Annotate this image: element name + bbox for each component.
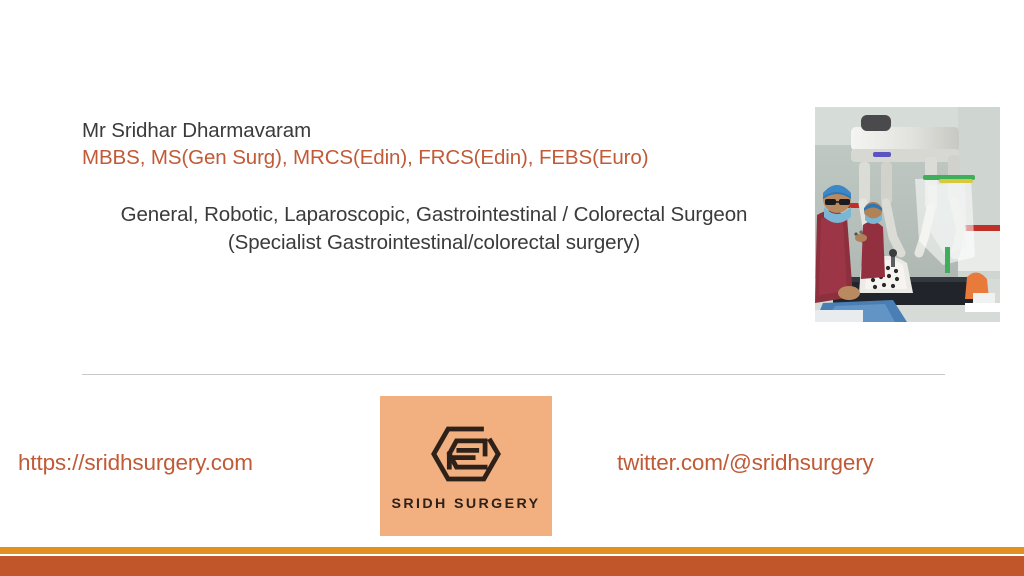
website-link[interactable]: https://sridhsurgery.com	[18, 448, 253, 478]
presenter-intro-block: Mr Sridhar Dharmavaram MBBS, MS(Gen Surg…	[82, 117, 792, 171]
surgical-robot-illustration	[815, 107, 1000, 322]
presenter-name: Mr Sridhar Dharmavaram	[82, 117, 792, 144]
section-divider	[82, 374, 945, 375]
operating-theatre-photo	[815, 107, 1000, 322]
footer-terracotta-bar	[0, 556, 1024, 576]
presenter-role-primary: General, Robotic, Laparoscopic, Gastroin…	[82, 201, 786, 229]
hexagonal-s-monogram-icon	[430, 423, 502, 485]
presenter-role-specialty: (Specialist Gastrointestinal/colorectal …	[82, 229, 786, 257]
hexagonal-s-monogram-svg	[430, 423, 502, 485]
sridh-surgery-logo-card: SRIDH SURGERY	[380, 396, 552, 536]
logo-wordmark: SRIDH SURGERY	[392, 496, 541, 512]
slide-canvas: Mr Sridhar Dharmavaram MBBS, MS(Gen Surg…	[0, 0, 1024, 576]
presenter-role-block: General, Robotic, Laparoscopic, Gastroin…	[82, 201, 786, 257]
footer-amber-bar	[0, 547, 1024, 554]
twitter-link[interactable]: twitter.com/@sridhsurgery	[617, 448, 874, 478]
presenter-credentials: MBBS, MS(Gen Surg), MRCS(Edin), FRCS(Edi…	[82, 144, 792, 171]
